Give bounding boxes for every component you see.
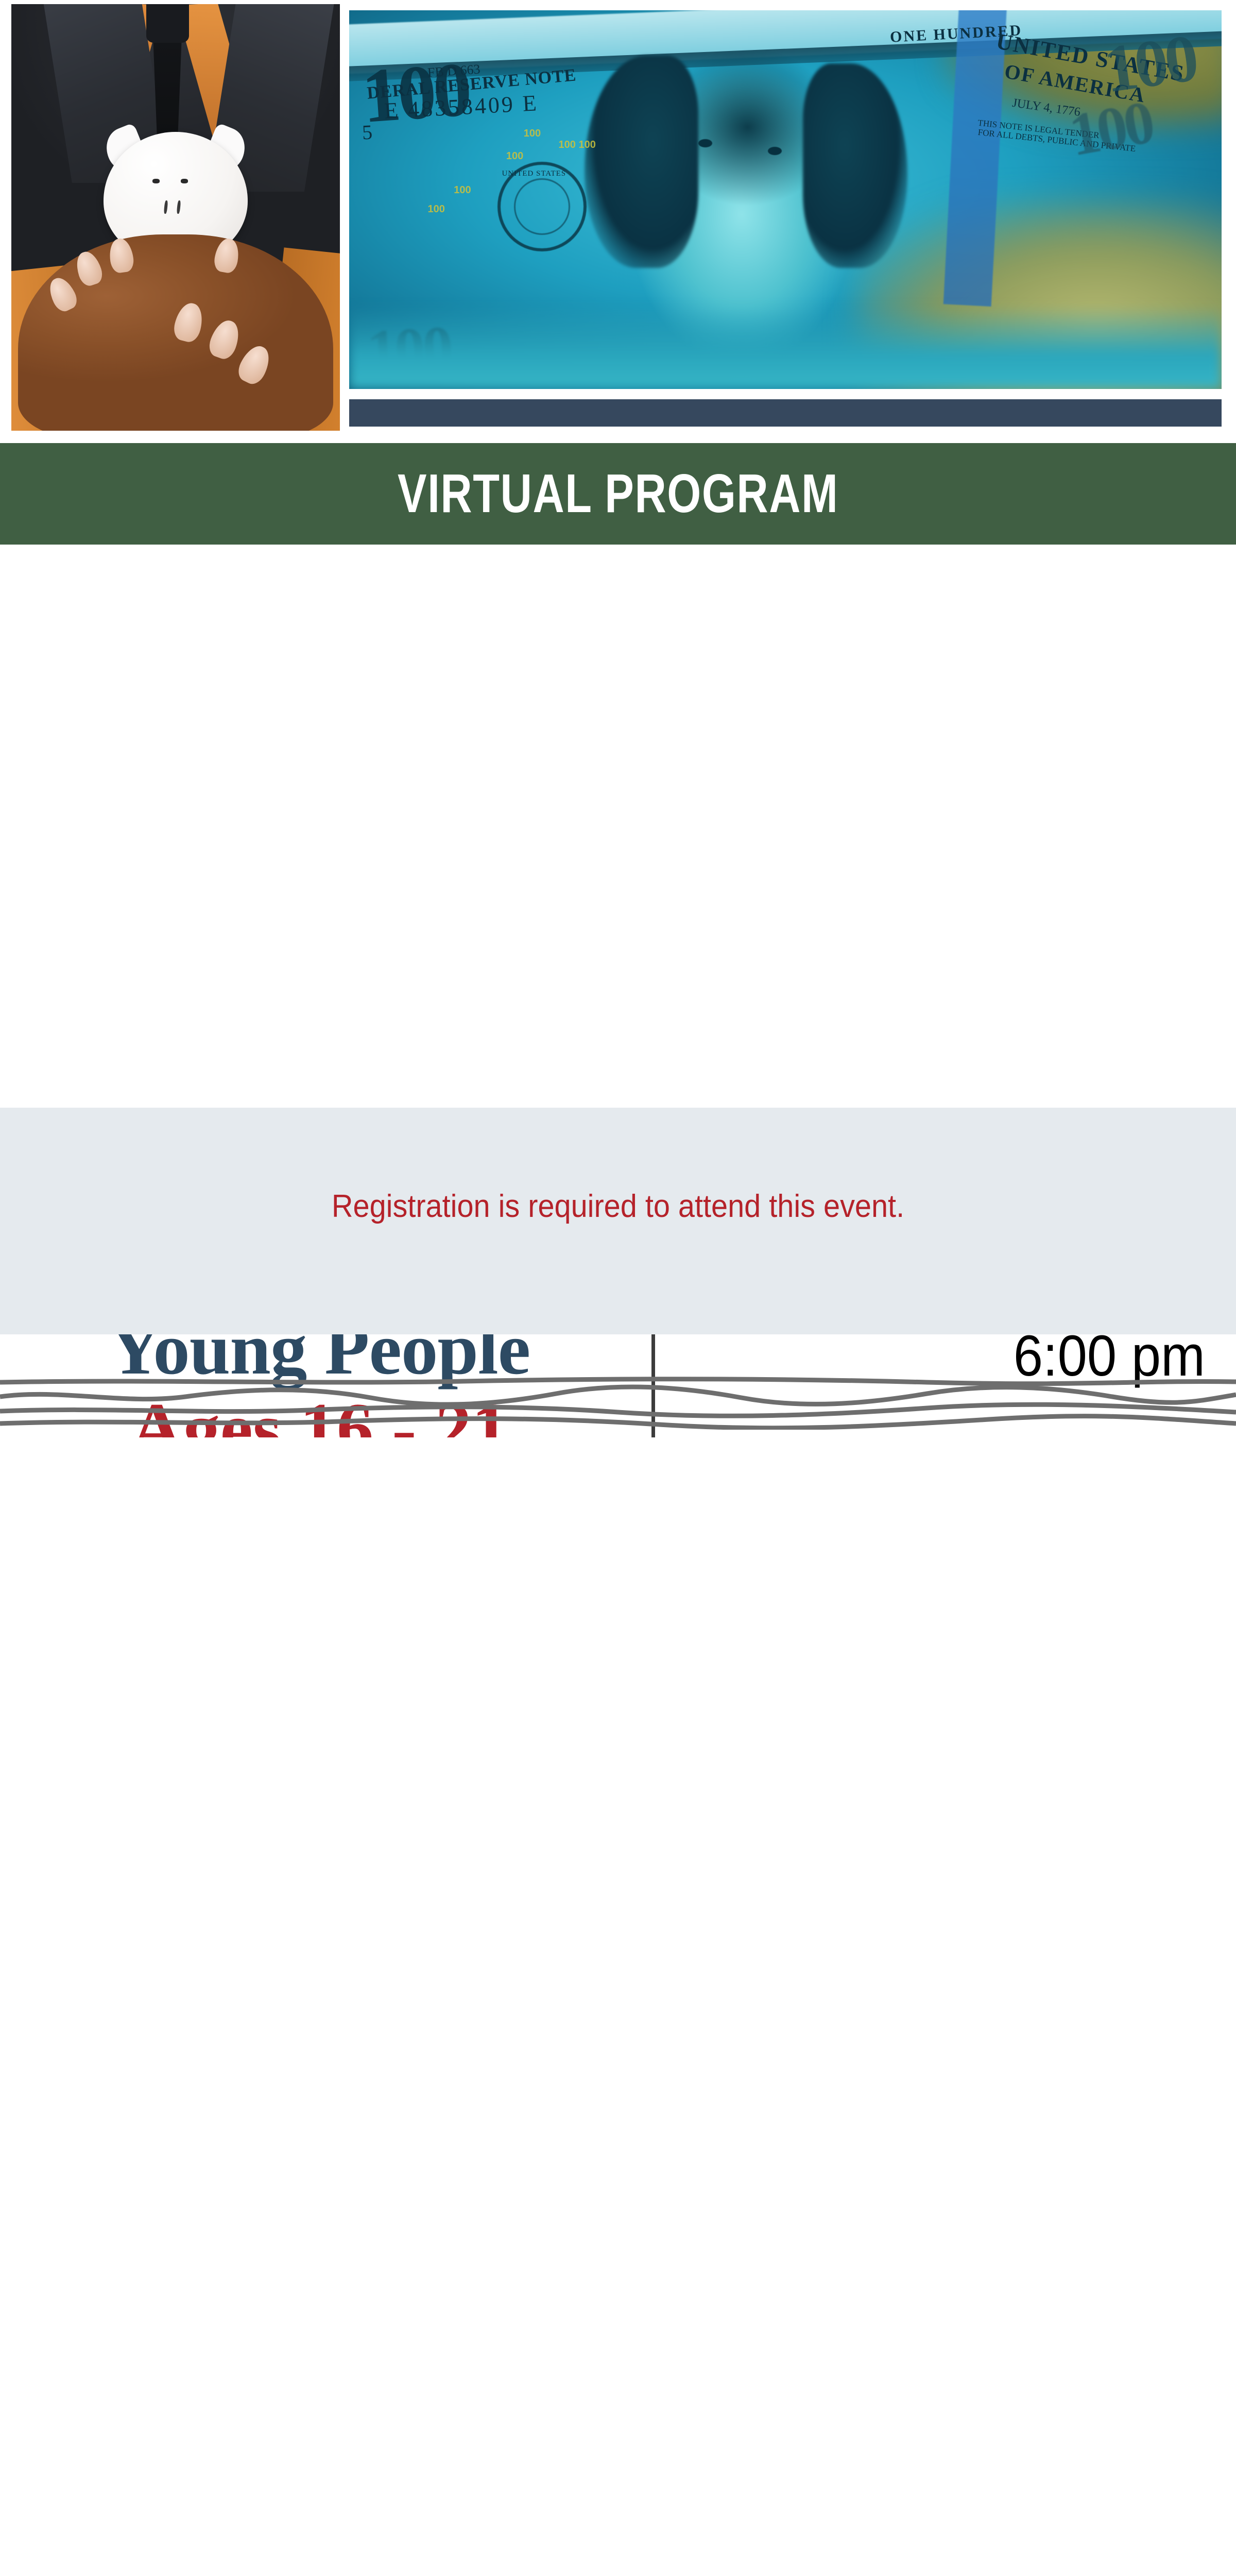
banner-label: VIRTUAL PROGRAM — [398, 463, 838, 525]
hero-image-band: 100 FB D 663 DERAL RESERVE NOTE E 483584… — [0, 0, 1236, 443]
piggy-eye-left — [152, 179, 160, 183]
necktie-knot — [146, 4, 189, 43]
registration-notice: Registration is required to attend this … — [43, 1188, 1193, 1225]
seal-text-united-states: UNITED STATES — [502, 170, 566, 178]
wavy-divider-lines — [0, 1373, 1236, 1430]
bill-bottom-blur — [349, 306, 1222, 389]
piggy-eye-right — [181, 179, 188, 183]
wave-line-2 — [0, 1387, 1236, 1404]
bill-corner-denomination-2: 100 — [1065, 87, 1157, 171]
microprint-100: 100 — [427, 204, 444, 215]
wave-line-1 — [0, 1379, 1236, 1384]
navy-accent-bar — [349, 399, 1222, 427]
program-details-section: Money Smart for Young People Ages 16 - 2… — [0, 545, 1236, 1108]
microprint-100: 100 — [506, 150, 523, 162]
microprint-100: 100 — [524, 128, 541, 140]
hundred-dollar-bill-photo: 100 FB D 663 DERAL RESERVE NOTE E 483584… — [349, 10, 1222, 389]
wave-line-3 — [0, 1404, 1236, 1416]
franklin-eye-right — [768, 147, 782, 155]
microprint-100: 100 100 — [559, 139, 596, 151]
bill-serial-digit: 5 — [362, 120, 373, 145]
franklin-eye-left — [698, 139, 712, 147]
piggy-bank-photo — [11, 4, 340, 431]
footer: BOSSIER PARISH LIBRARIES East 80 Branch … — [0, 1437, 1236, 1623]
wave-line-4 — [0, 1416, 1236, 1428]
virtual-program-banner: VIRTUAL PROGRAM — [0, 443, 1236, 545]
microprint-100: 100 — [454, 184, 471, 196]
